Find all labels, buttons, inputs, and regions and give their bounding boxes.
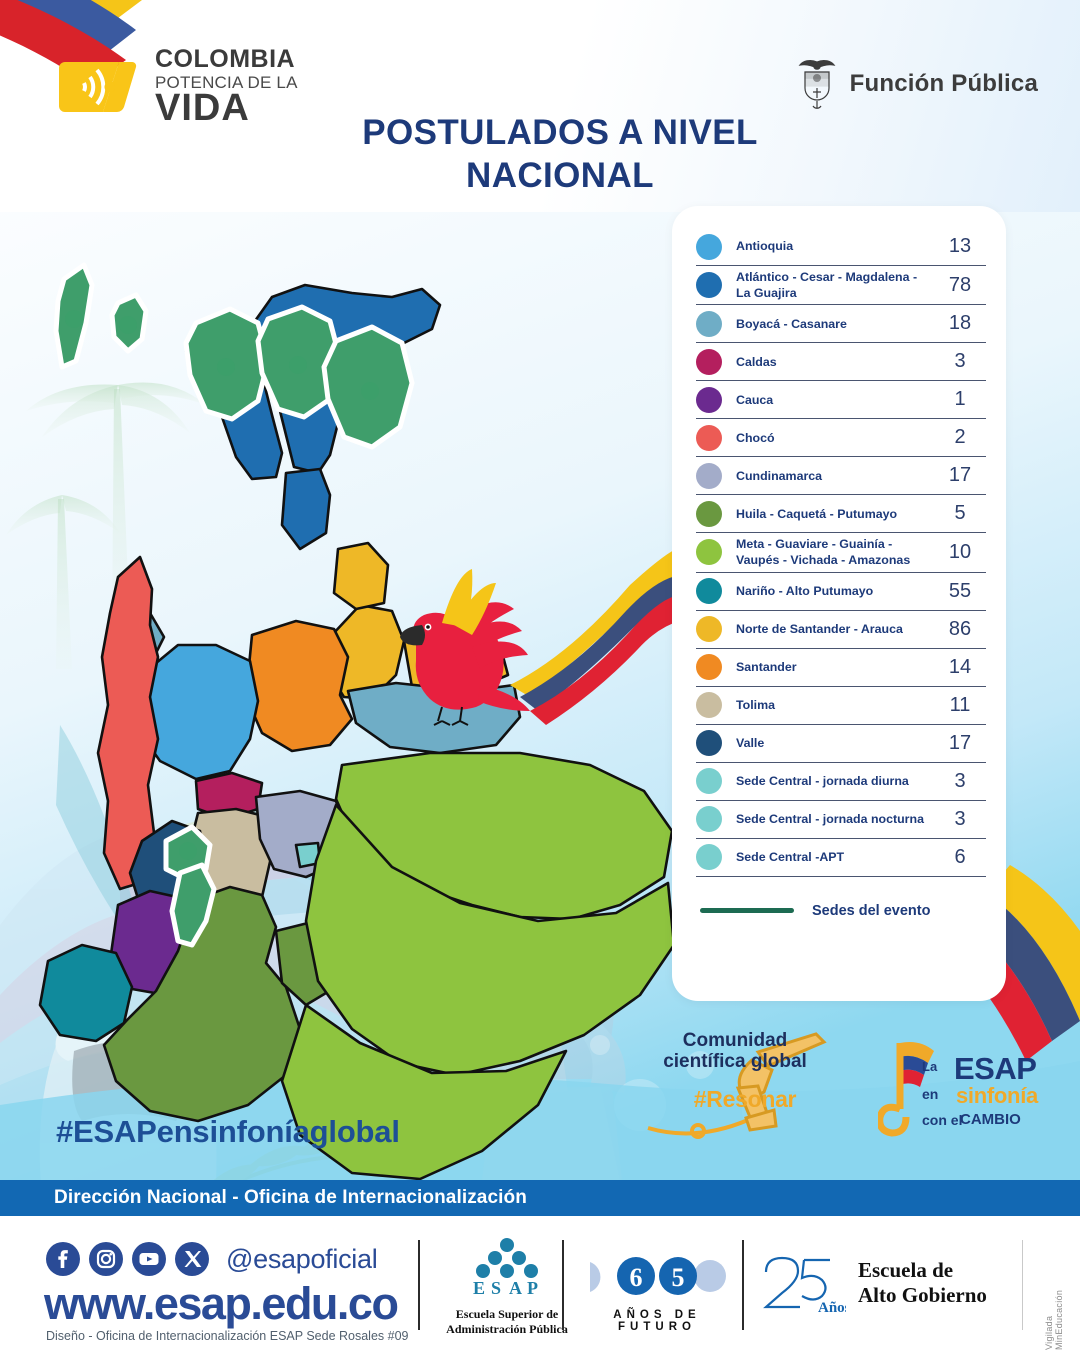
alto-gobierno-line1: Escuela de	[858, 1258, 987, 1283]
esap-name-line1: Escuela Superior de	[432, 1307, 582, 1322]
design-credit: Diseño - Oficina de Internacionalización…	[46, 1329, 408, 1343]
footer-divider	[1022, 1240, 1023, 1330]
legend-value: 86	[934, 618, 986, 641]
legend-label: Antioquia	[722, 238, 934, 254]
legend-color-dot	[696, 501, 722, 527]
esap-name-line2: Administración Pública	[432, 1322, 582, 1337]
colombia-logo-line3: VIDA	[155, 89, 298, 127]
svg-text:A: A	[509, 1278, 522, 1298]
legend-value: 3	[934, 770, 986, 793]
legend-color-dot	[696, 844, 722, 870]
header-band: COLOMBIA POTENCIA DE LA VIDA Función Púb…	[0, 0, 1080, 212]
legend-label: Nariño - Alto Putumayo	[722, 583, 934, 599]
legend-row[interactable]: Caldas 3	[696, 343, 986, 381]
legend-color-dot	[696, 463, 722, 489]
legend-color-dot	[696, 539, 722, 565]
legend-row[interactable]: Cundinamarca 17	[696, 457, 986, 495]
colombia-coat-of-arms-icon	[795, 58, 839, 110]
65-years-icon: 6 5	[576, 1254, 738, 1298]
legend-color-dot	[696, 768, 722, 794]
legend-value: 13	[934, 235, 986, 258]
legend-value: 11	[934, 694, 986, 717]
resonar-hashtag: #Resonar	[670, 1086, 820, 1113]
facebook-icon[interactable]	[46, 1242, 80, 1276]
legend-row[interactable]: Meta - Guaviare - Guainía - Vaupés - Vic…	[696, 533, 986, 572]
colombia-potencia-de-la-vida-logo: COLOMBIA POTENCIA DE LA VIDA	[57, 42, 357, 132]
legend-value: 17	[934, 732, 986, 755]
colombia-logo-mark-icon	[57, 44, 143, 130]
colombia-parrot-flag-illustration	[380, 535, 680, 735]
25-anos-alto-gobierno-logo: Años Escuela de Alto Gobierno	[760, 1250, 987, 1316]
website-url[interactable]: www.esap.edu.co	[44, 1278, 397, 1330]
legend-color-dot	[696, 654, 722, 680]
page-title: POSTULADOS A NIVEL NACIONAL	[330, 112, 790, 197]
legend-value: 14	[934, 656, 986, 679]
legend-label: Huila - Caquetá - Putumayo	[722, 506, 934, 522]
legend-label: Sede Central -APT	[722, 849, 934, 865]
legend-row[interactable]: Valle 17	[696, 725, 986, 763]
legend-label: Sede Central - jornada nocturna	[722, 811, 934, 827]
vigilada-mineducacion-label: Vigilada MinEducación	[1044, 1256, 1058, 1350]
25-anos-sub: Años	[818, 1300, 846, 1316]
legend-value: 3	[934, 350, 986, 373]
comunidad-cientifica-resonar-logo: Comunidad científica global #Resonar	[640, 1030, 830, 1140]
legend-label: Meta - Guaviare - Guainía - Vaupés - Vic…	[722, 536, 934, 568]
legend-row[interactable]: Sede Central - jornada nocturna 3	[696, 801, 986, 839]
legend-label: Cundinamarca	[722, 468, 934, 484]
legend-row[interactable]: Norte de Santander - Arauca 86	[696, 611, 986, 649]
social-handle[interactable]: @esapoficial	[226, 1244, 377, 1275]
legend-label: Santander	[722, 659, 934, 675]
blue-strip-banner: Dirección Nacional - Oficina de Internac…	[0, 1180, 1080, 1216]
resonar-title: Comunidad científica global	[650, 1030, 820, 1073]
legend-label: Sede Central - jornada diurna	[722, 773, 934, 789]
social-links: @esapoficial	[46, 1242, 377, 1276]
legend-value: 5	[934, 502, 986, 525]
legend-row[interactable]: Antioquia 13	[696, 228, 986, 266]
colombia-logo-line1: COLOMBIA	[155, 47, 298, 72]
legend-color-dot	[696, 806, 722, 832]
esap-dots-logo-icon: ESAP	[461, 1238, 553, 1300]
legend-color-dot	[696, 349, 722, 375]
esap-lock-con-el: con el	[922, 1112, 962, 1128]
legend-value: 55	[934, 580, 986, 603]
resonar-line1: Comunidad	[683, 1030, 788, 1051]
legend-row[interactable]: Chocó 2	[696, 419, 986, 457]
esap-lock-esap: ESAP	[954, 1051, 1036, 1087]
legend-color-dot	[696, 234, 722, 260]
legend-color-dot	[696, 692, 722, 718]
footer-divider	[562, 1240, 564, 1330]
legend-row[interactable]: Boyacá - Casanare 18	[696, 305, 986, 343]
legend-row[interactable]: Cauca 1	[696, 381, 986, 419]
legend-value: 2	[934, 426, 986, 449]
legend-label: Norte de Santander - Arauca	[722, 621, 934, 637]
legend-label: Caldas	[722, 354, 934, 370]
la-esap-en-sinfonia-con-el-cambio-logo: La ESAP en sinfonía con el CAMBIO	[878, 1037, 1050, 1141]
footer-divider	[742, 1240, 744, 1330]
svg-text:E: E	[473, 1278, 485, 1298]
blue-strip-text: Dirección Nacional - Oficina de Internac…	[54, 1187, 527, 1209]
legend-label: Chocó	[722, 430, 934, 446]
youtube-icon[interactable]	[132, 1242, 166, 1276]
resonar-line2: científica global	[663, 1051, 807, 1072]
legend-color-dot	[696, 311, 722, 337]
legend-color-dot	[696, 616, 722, 642]
legend-row[interactable]: Sede Central - jornada diurna 3	[696, 763, 986, 801]
65-anos-text: AÑOS DE FUTURO	[576, 1309, 738, 1333]
legend-row[interactable]: Sede Central -APT 6	[696, 839, 986, 877]
esap-lock-la: La	[922, 1059, 937, 1074]
legend-value: 1	[934, 388, 986, 411]
65-anos-de-futuro-logo: 6 5 AÑOS DE FUTURO	[576, 1254, 738, 1333]
esap-lock-sinfonia: sinfonía	[956, 1083, 1038, 1109]
legend-color-dot	[696, 578, 722, 604]
legend-value: 78	[934, 274, 986, 297]
sedes-line-swatch	[700, 908, 794, 913]
legend-color-dot	[696, 425, 722, 451]
legend-sedes-del-evento: Sedes del evento	[696, 903, 986, 919]
svg-text:5: 5	[672, 1263, 685, 1292]
sedes-label: Sedes del evento	[812, 903, 930, 919]
legend-label: Cauca	[722, 392, 934, 408]
esap-lock-en: en	[922, 1086, 938, 1102]
legend-value: 18	[934, 312, 986, 335]
legend-label: Boyacá - Casanare	[722, 316, 934, 332]
legend-row[interactable]: Tolima 11	[696, 687, 986, 725]
svg-text:P: P	[527, 1278, 538, 1298]
legend-label: Atlántico - Cesar - Magdalena - La Guaji…	[722, 269, 934, 301]
legend-value: 6	[934, 846, 986, 869]
page-title-line2: NACIONAL	[330, 155, 790, 198]
legend-row[interactable]: Huila - Caquetá - Putumayo 5	[696, 495, 986, 533]
alto-gobierno-line2: Alto Gobierno	[858, 1283, 987, 1308]
legend-row[interactable]: Nariño - Alto Putumayo 55	[696, 573, 986, 611]
funcion-publica-label: Función Pública	[850, 70, 1038, 98]
funcion-publica-logo: Función Pública	[795, 58, 1038, 110]
svg-text:S: S	[491, 1278, 501, 1298]
hashtag-esap-sinfonia-global: #ESAPensinfoníaglobal	[56, 1114, 400, 1150]
legend-color-dot	[696, 387, 722, 413]
map-region-santander	[246, 621, 352, 751]
legend-color-dot	[696, 272, 722, 298]
page-title-line1: POSTULADOS A NIVEL	[330, 112, 790, 155]
legend-value: 3	[934, 808, 986, 831]
legend-panel: Antioquia 13 Atlántico - Cesar - Magdale…	[672, 206, 1006, 1001]
alto-gobierno-text: Escuela de Alto Gobierno	[858, 1258, 987, 1308]
legend-label: Valle	[722, 735, 934, 751]
svg-text:6: 6	[630, 1263, 643, 1292]
legend-row[interactable]: Atlántico - Cesar - Magdalena - La Guaji…	[696, 266, 986, 305]
legend-color-dot	[696, 730, 722, 756]
x-twitter-icon[interactable]	[175, 1242, 209, 1276]
esap-lock-cambio: CAMBIO	[960, 1111, 1021, 1128]
legend-row[interactable]: Santander 14	[696, 649, 986, 687]
instagram-icon[interactable]	[89, 1242, 123, 1276]
map-region-narino-alto-putumayo	[40, 945, 132, 1041]
25-years-icon: Años	[760, 1250, 846, 1316]
esap-institutional-logo: ESAP Escuela Superior de Administración …	[432, 1238, 582, 1337]
footer: @esapoficial www.esap.edu.co Diseño - Of…	[0, 1216, 1080, 1350]
footer-divider	[418, 1240, 420, 1330]
legend-value: 10	[934, 541, 986, 564]
legend-value: 17	[934, 464, 986, 487]
legend-label: Tolima	[722, 697, 934, 713]
